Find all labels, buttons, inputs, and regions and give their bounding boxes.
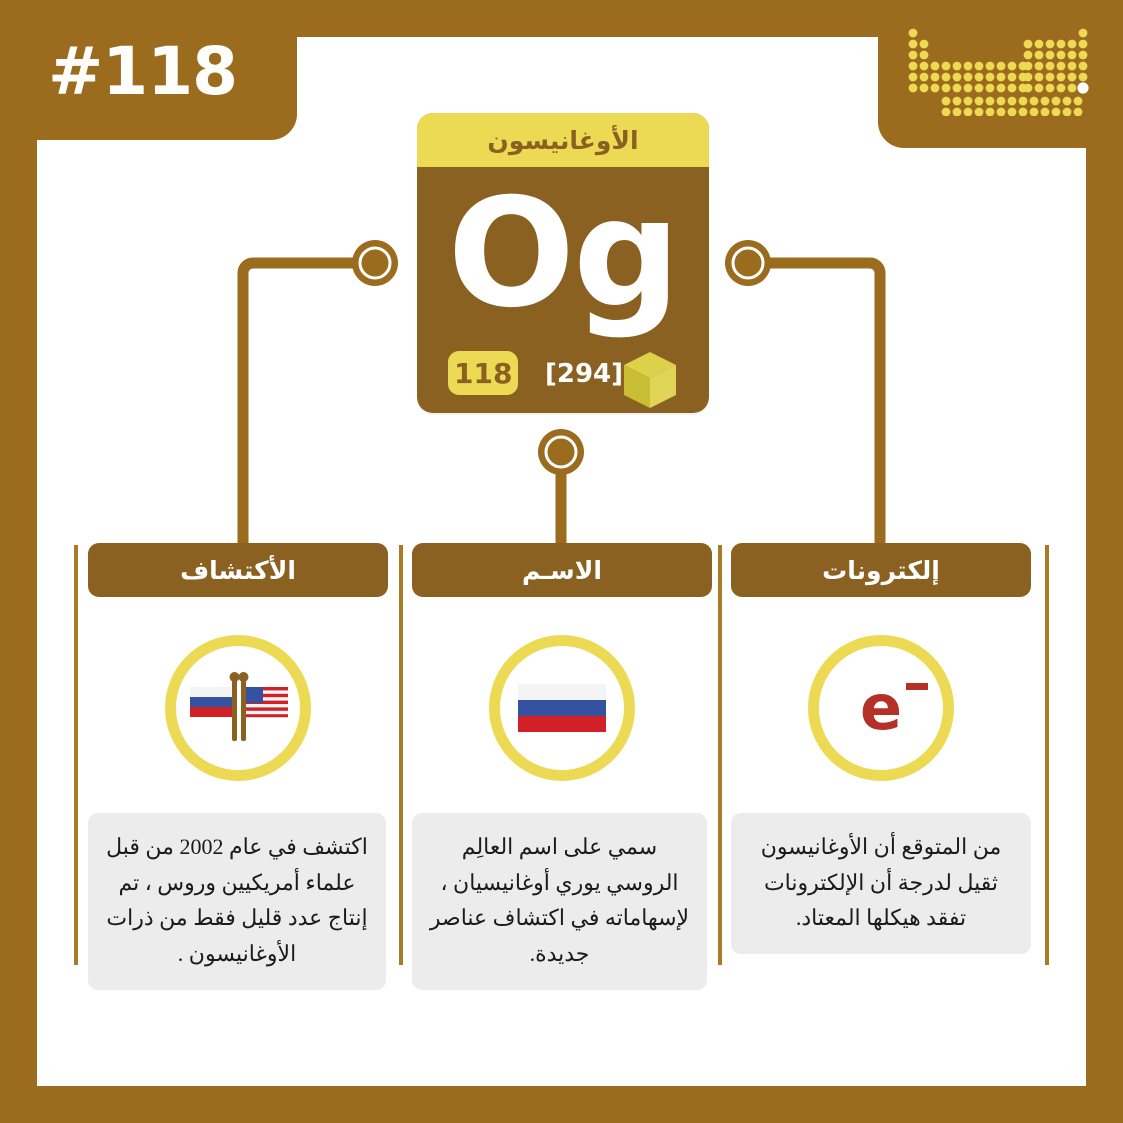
panel-text-discovery: اكتشف في عام 2002 من قبل علماء أمريكيين … <box>88 813 386 990</box>
column-divider-left <box>74 545 78 965</box>
icon-ring <box>489 635 635 781</box>
minus-sign <box>906 683 928 690</box>
panel-header-label: الاسـم <box>522 556 602 585</box>
periodic-table-dots-icon <box>908 28 1093 116</box>
element-card[interactable]: الأوغانيسون Og 118 [294] <box>417 113 709 413</box>
panel-header-name[interactable]: الاسـم <box>412 543 712 597</box>
electron-minus-icon: e <box>860 677 902 739</box>
panel-icon-discovery <box>88 613 388 803</box>
panel-electrons: إلكترونات e من المتوقع أن الأوغانيسون ثق… <box>731 543 1031 954</box>
flags-russia-usa-icon <box>186 665 290 751</box>
panel-icon-name <box>412 613 712 803</box>
solid-cube-icon <box>620 349 680 416</box>
panel-header-label: الأكتشاف <box>180 556 296 585</box>
icon-ring: e <box>808 635 954 781</box>
element-symbol: Og <box>417 159 709 349</box>
panel-text-name: سمي على اسم العالِم الروسي يوري أوغانيسي… <box>412 813 707 990</box>
panel-discovery: الأكتشاف <box>88 543 388 990</box>
element-name: الأوغانيسون <box>487 126 638 155</box>
infographic-page: الأوغانيسون Og 118 [294] #118 <box>0 0 1123 1123</box>
column-divider-mid-2 <box>718 545 722 965</box>
panel-name: الاسـم سمي على اسم العالِم الروسي يوري أ… <box>412 543 712 990</box>
electron-glyph: e <box>860 671 902 744</box>
panel-icon-electrons: e <box>731 613 1031 803</box>
column-divider-mid-1 <box>399 545 403 965</box>
panel-text-electrons: من المتوقع أن الأوغانيسون ثقيل لدرجة أن … <box>731 813 1031 954</box>
icon-ring <box>165 635 311 781</box>
element-atomic-number: 118 <box>448 351 518 395</box>
element-number-badge: #118 <box>0 0 297 140</box>
periodic-table-badge <box>878 0 1123 148</box>
panel-header-electrons[interactable]: إلكترونات <box>731 543 1031 597</box>
column-divider-right <box>1045 545 1049 965</box>
panel-header-discovery[interactable]: الأكتشاف <box>88 543 388 597</box>
element-number-badge-label: #118 <box>48 33 237 110</box>
element-118-highlight-dot <box>1077 82 1088 93</box>
flag-russia-icon <box>516 676 608 740</box>
panel-header-label: إلكترونات <box>822 556 940 585</box>
